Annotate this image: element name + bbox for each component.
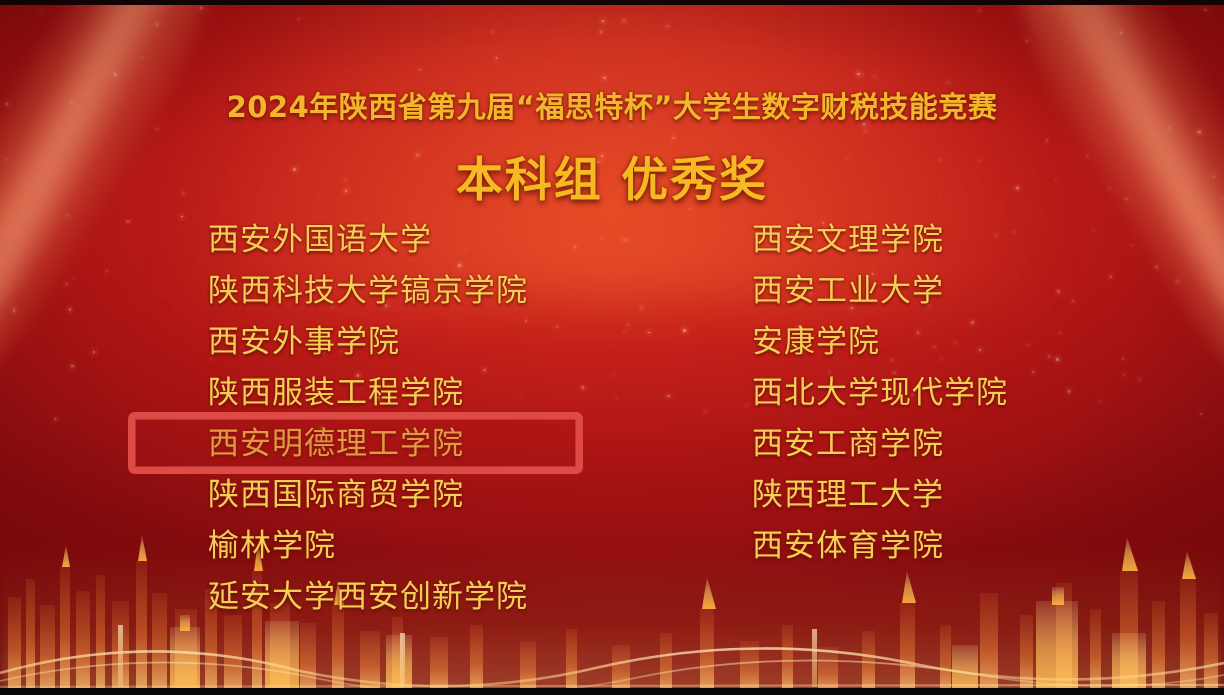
list-item[interactable]: 西安工商学院 <box>752 418 1008 469</box>
list-item[interactable]: 陕西理工大学 <box>752 469 1008 520</box>
list-item[interactable]: 西安体育学院 <box>752 520 1008 571</box>
award-slide: 2024年陕西省第九届“福思特杯”大学生数字财税技能竞赛 本科组 优秀奖 西安外… <box>0 0 1224 695</box>
award-category-title: 本科组 优秀奖 <box>0 141 1224 210</box>
bottom-letterbox-bar <box>0 688 1224 695</box>
list-item[interactable]: 西安外国语大学 <box>208 214 528 265</box>
top-letterbox-bar <box>0 0 1224 5</box>
list-item[interactable]: 西安工业大学 <box>752 265 1008 316</box>
highlight-annotation-box[interactable] <box>128 412 583 474</box>
award-column-right: 西安文理学院 西安工业大学 安康学院 西北大学现代学院 西安工商学院 陕西理工大… <box>752 214 1008 571</box>
list-item[interactable]: 榆林学院 <box>208 520 528 571</box>
list-item[interactable]: 西安文理学院 <box>752 214 1008 265</box>
list-item[interactable]: 延安大学西安创新学院 <box>208 571 528 622</box>
list-item[interactable]: 西北大学现代学院 <box>752 367 1008 418</box>
page-title: 2024年陕西省第九届“福思特杯”大学生数字财税技能竞赛 <box>0 84 1224 126</box>
list-item[interactable]: 陕西服装工程学院 <box>208 367 528 418</box>
list-item[interactable]: 安康学院 <box>752 316 1008 367</box>
list-item[interactable]: 陕西国际商贸学院 <box>208 469 528 520</box>
list-item[interactable]: 陕西科技大学镐京学院 <box>208 265 528 316</box>
list-item[interactable]: 西安外事学院 <box>208 316 528 367</box>
slide-content: 2024年陕西省第九届“福思特杯”大学生数字财税技能竞赛 本科组 优秀奖 西安外… <box>0 0 1224 695</box>
